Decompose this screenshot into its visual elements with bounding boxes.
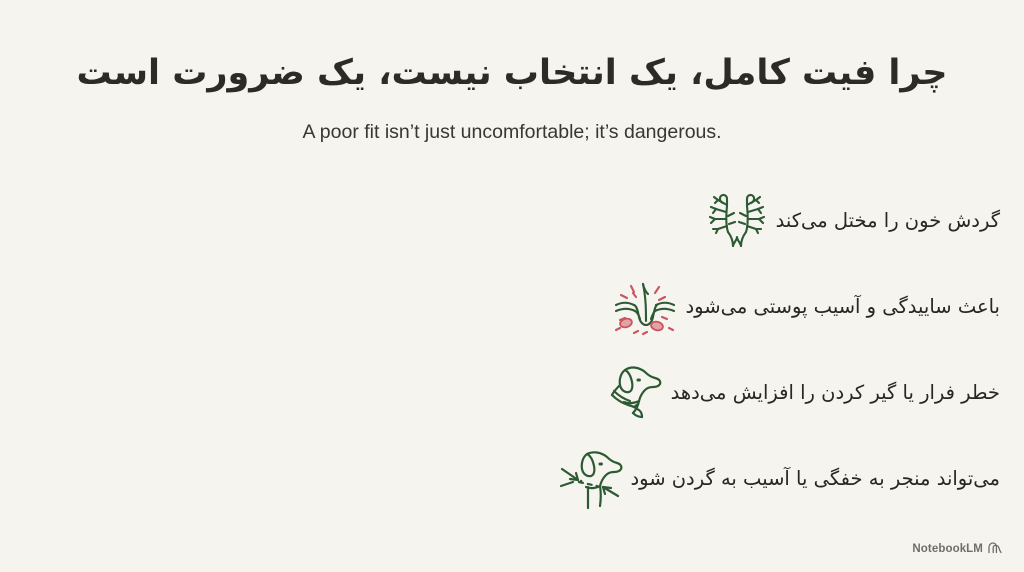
slide-canvas: چرا فیت کامل، یک انتخاب نیست، یک ضرورت ا… — [0, 0, 1024, 572]
list-item: خطر فرار یا گیر کردن را افزایش می‌دهد — [593, 354, 1024, 432]
list-item: باعث ساییدگی و آسیب پوستی می‌شود — [608, 268, 1024, 346]
notebooklm-wordmark: NotebookLM — [912, 543, 983, 555]
list-item: می‌تواند منجر به خفگی یا آسیب به گردن شو… — [552, 440, 1024, 518]
notebooklm-logo-icon — [988, 539, 1002, 558]
page-title: چرا فیت کامل، یک انتخاب نیست، یک ضرورت ا… — [62, 52, 962, 96]
list-item-label: خطر فرار یا گیر کردن را افزایش می‌دهد — [671, 378, 1000, 407]
risk-points-list: گردش خون را مختل می‌کند — [0, 182, 1024, 518]
dog-head-loose-collar-icon — [593, 357, 671, 429]
dog-head-neck-pressure-icon — [552, 443, 630, 515]
list-item-label: می‌تواند منجر به خفگی یا آسیب به گردن شو… — [630, 464, 1000, 493]
blood-circulation-icon — [698, 185, 776, 257]
notebooklm-brand: NotebookLM — [912, 539, 1002, 558]
list-item-label: گردش خون را مختل می‌کند — [776, 206, 1000, 235]
page-subtitle: A poor fit isn’t just uncomfortable; it’… — [82, 121, 942, 144]
skin-irritation-icon — [608, 271, 686, 343]
list-item-label: باعث ساییدگی و آسیب پوستی می‌شود — [686, 292, 1001, 321]
list-item: گردش خون را مختل می‌کند — [698, 182, 1024, 260]
